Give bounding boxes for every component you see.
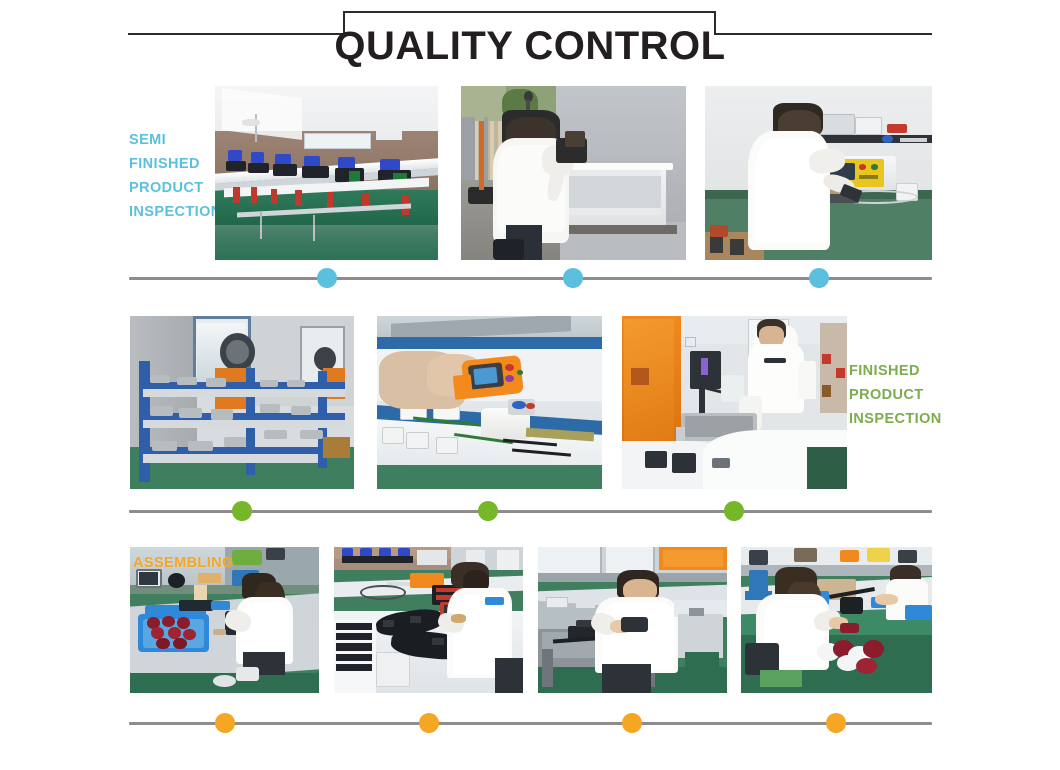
rail-assembling [129,722,932,725]
photo-finished-racking [130,316,354,489]
rail-node-finished-1 [232,501,252,521]
photo-assembling-production-line [741,547,932,693]
section-label-assembling: ASSEMBLING [133,551,333,575]
rail-node-semi-3 [809,268,829,288]
rail-node-assembling-1 [215,713,235,733]
page-header: QUALITY CONTROL [0,0,1060,72]
quality-control-page: QUALITY CONTROL SEMI FINISHED PRODUCT IN… [0,0,1060,770]
photo-semi-valve-test-bench [215,86,438,260]
photo-semi-high-voltage-test [705,86,932,260]
rail-node-assembling-2 [419,713,439,733]
rail-node-finished-3 [724,501,744,521]
header-rule-top [343,11,716,13]
rail-node-semi-1 [317,268,337,288]
rail-finished-product [129,510,932,513]
page-title: QUALITY CONTROL [0,24,1060,68]
photo-finished-handheld-meter [377,316,602,489]
photo-semi-water-leak-test [461,86,686,260]
rail-node-assembling-4 [826,713,846,733]
rail-node-semi-2 [563,268,583,288]
rail-semi-finished [129,277,932,280]
rail-node-assembling-3 [622,713,642,733]
photo-assembling-harness-desk [538,547,727,693]
photo-finished-water-immersion [622,316,847,489]
photo-assembling-component-sorting [334,547,523,693]
rail-node-finished-2 [478,501,498,521]
section-label-finished-product: FINISHED PRODUCT INSPECTION [849,359,959,431]
